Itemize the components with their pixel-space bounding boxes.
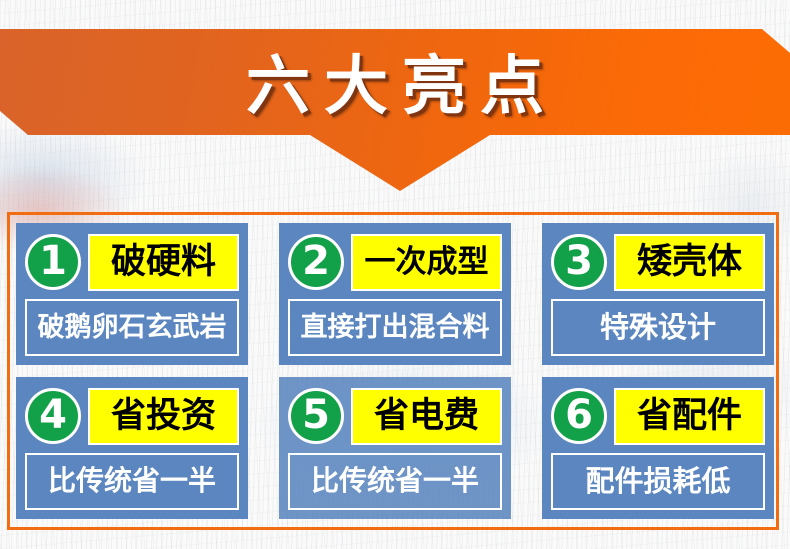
feature-number-badge-5: 5 (288, 388, 344, 444)
features-grid: 1 破硬料 破鹅卵石玄武岩 2 一次成型 直接打出混合料 3 矮壳体 特殊设计 … (16, 223, 774, 519)
feature-card-6-header: 6 省配件 (551, 385, 765, 448)
feature-highlight-4: 省投资 (88, 388, 239, 445)
feature-card-1-header: 1 破硬料 (25, 231, 239, 294)
feature-card-5[interactable]: 5 省电费 比传统省一半 (279, 377, 511, 519)
feature-card-2[interactable]: 2 一次成型 直接打出混合料 (279, 223, 511, 365)
feature-highlight-3: 矮壳体 (614, 234, 765, 291)
feature-card-3[interactable]: 3 矮壳体 特殊设计 (542, 223, 774, 365)
feature-number-badge-4: 4 (25, 388, 81, 444)
feature-highlight-5: 省电费 (351, 388, 502, 445)
feature-number-badge-3: 3 (551, 234, 607, 290)
feature-number-badge-1: 1 (25, 234, 81, 290)
feature-subtitle-3: 特殊设计 (551, 299, 765, 356)
feature-card-4-header: 4 省投资 (25, 385, 239, 448)
feature-number-badge-6: 6 (551, 388, 607, 444)
header-banner: 六大亮点 (0, 29, 790, 191)
banner-title: 六大亮点 (0, 47, 790, 127)
feature-subtitle-5: 比传统省一半 (288, 453, 502, 510)
feature-card-1[interactable]: 1 破硬料 破鹅卵石玄武岩 (16, 223, 248, 365)
feature-number-badge-2: 2 (288, 234, 344, 290)
feature-card-4[interactable]: 4 省投资 比传统省一半 (16, 377, 248, 519)
feature-highlight-2: 一次成型 (351, 234, 502, 291)
feature-subtitle-1: 破鹅卵石玄武岩 (25, 299, 239, 356)
feature-subtitle-6: 配件损耗低 (551, 453, 765, 510)
feature-subtitle-2: 直接打出混合料 (288, 299, 502, 356)
feature-highlight-1: 破硬料 (88, 234, 239, 291)
feature-card-5-header: 5 省电费 (288, 385, 502, 448)
feature-card-6[interactable]: 6 省配件 配件损耗低 (542, 377, 774, 519)
feature-highlight-6: 省配件 (614, 388, 765, 445)
feature-card-3-header: 3 矮壳体 (551, 231, 765, 294)
feature-subtitle-4: 比传统省一半 (25, 453, 239, 510)
feature-card-2-header: 2 一次成型 (288, 231, 502, 294)
